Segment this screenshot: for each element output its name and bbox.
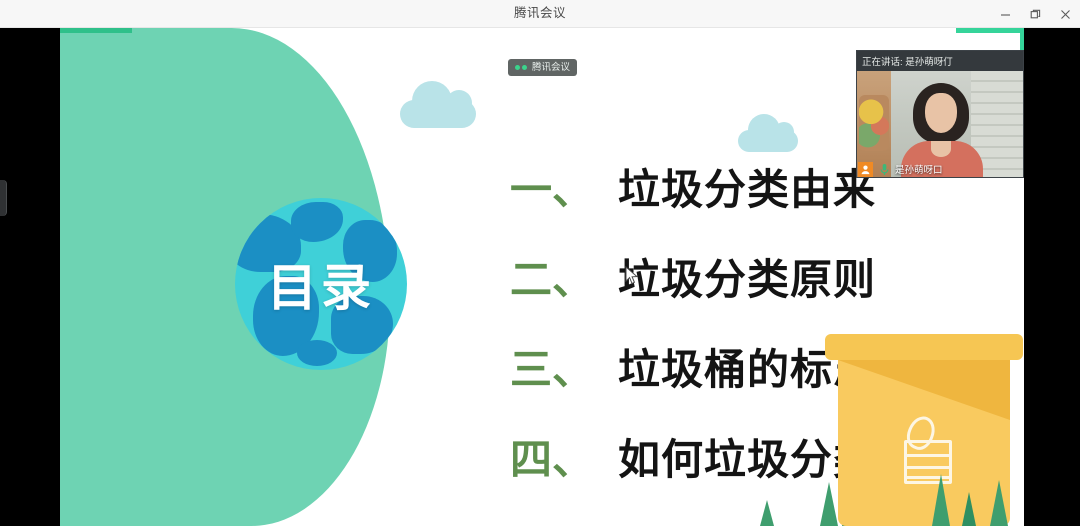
bin-shading [838,360,1010,420]
plant-decor [859,95,889,151]
toc-number: 三、 [510,336,618,397]
maximize-button[interactable] [1020,0,1050,28]
mouse-cursor [625,266,639,286]
meeting-indicator-label: 腾讯会议 [532,59,570,76]
speaking-status-bar: 正在讲话: 是孙萌呀仃 [857,51,1023,71]
can-line [904,466,952,469]
shared-screen-stage: 目录 一、 垃圾分类由来 二、 垃圾分类原则 三、 垃圾桶的标志 四、 [0,28,1080,526]
grass-icon [990,480,1008,526]
toc-label: 垃圾分类原则 [618,246,876,307]
grass-icon [760,500,774,526]
microphone-icon [877,162,891,177]
participant-name-bar: 是孙萌呀口 [857,161,943,177]
minimize-button[interactable] [990,0,1020,28]
person-collar [931,141,951,157]
person-face [925,93,957,133]
close-icon [1060,9,1071,20]
window-controls [990,0,1080,28]
participant-video-tile[interactable]: 正在讲话: 是孙萌呀仃 [856,50,1024,178]
meeting-dots-icon [515,65,527,70]
can-line [904,454,952,457]
toc-number: 一、 [510,156,618,217]
sidebar-collapse-handle[interactable] [0,180,7,216]
minimize-icon [1000,9,1011,20]
speaking-status-label: 正在讲话: 是孙萌呀仃 [862,54,953,68]
globe-icon: 目录 [235,198,407,370]
title-bar: 腾讯会议 [0,0,1080,28]
person-icon [858,162,873,177]
grass-icon [932,474,950,526]
cloud-icon [738,130,798,152]
window-title: 腾讯会议 [0,0,1080,27]
toc-number: 二、 [510,246,618,307]
toc-item: 二、 垃圾分类原则 [510,246,930,336]
trash-bin-body [838,360,1010,526]
cloud-icon [400,100,476,128]
grass-icon [820,482,838,526]
accent-bar-right [956,28,1024,33]
participant-name-label: 是孙萌呀口 [895,162,943,176]
toc-label: 垃圾分类由来 [618,156,876,217]
accent-bar-left [60,28,132,33]
slide-title: 目录 [235,198,407,370]
meeting-indicator-pill[interactable]: 腾讯会议 [508,59,577,76]
restore-icon [1030,9,1041,20]
grass-icon [962,492,976,526]
close-button[interactable] [1050,0,1080,28]
trash-bin-lid [825,334,1023,360]
meeting-window: 腾讯会议 [0,0,1080,526]
toc-number: 四、 [510,426,618,487]
